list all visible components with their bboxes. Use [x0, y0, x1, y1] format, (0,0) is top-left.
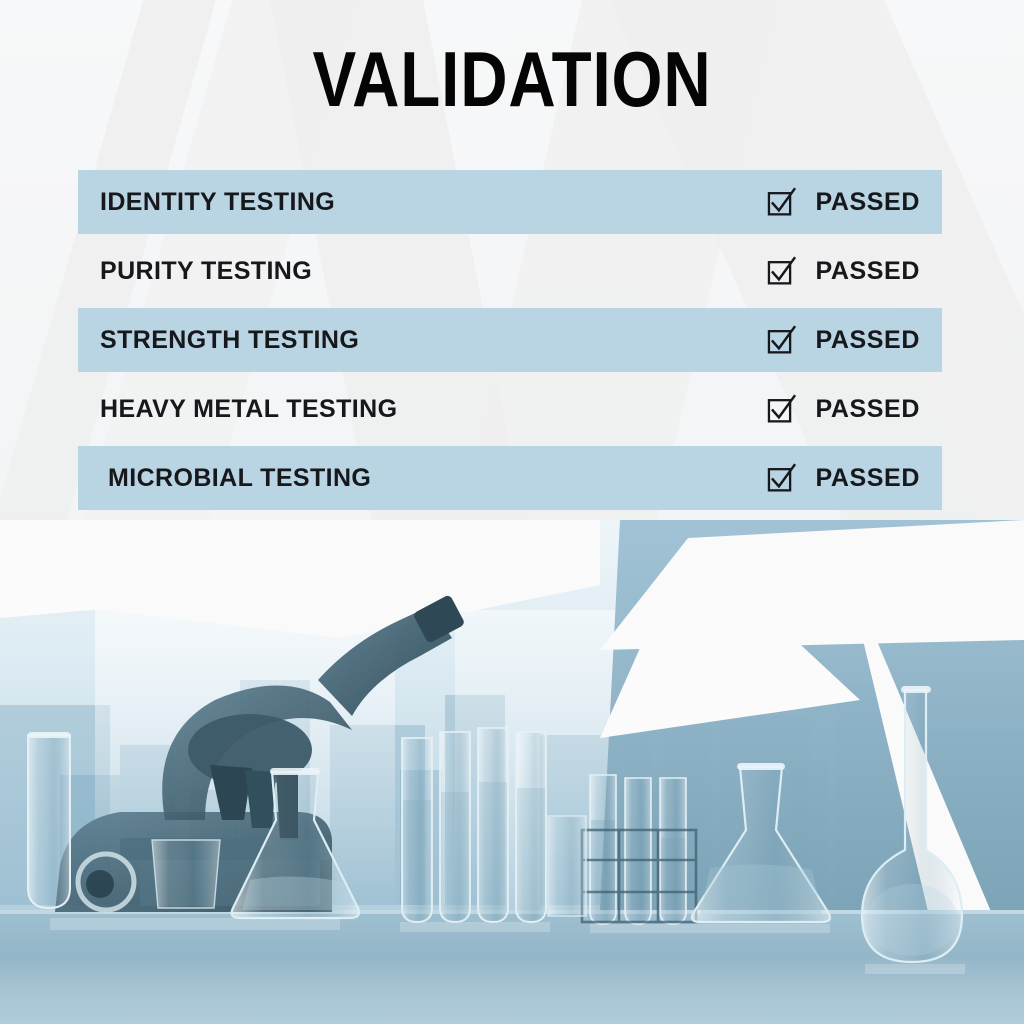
checklist-row-status: PASSED: [767, 256, 920, 286]
checklist-row-status: PASSED: [767, 463, 920, 493]
checklist-row: MICROBIAL TESTING PASSED: [78, 446, 942, 510]
checklist-row-label: PURITY TESTING: [100, 257, 312, 286]
checklist-row-status: PASSED: [767, 325, 920, 355]
checklist-row-status: PASSED: [767, 187, 920, 217]
checklist-row: IDENTITY TESTING PASSED: [78, 170, 942, 234]
checked-box-icon: [767, 394, 797, 424]
validation-checklist: IDENTITY TESTING PASSED PURITY TESTING: [78, 170, 942, 515]
status-badge: PASSED: [815, 395, 920, 424]
checked-box-icon: [767, 256, 797, 286]
page-title: VALIDATION: [82, 40, 942, 118]
status-badge: PASSED: [815, 257, 920, 286]
checklist-row: HEAVY METAL TESTING PASSED: [78, 377, 942, 441]
checked-box-icon: [767, 325, 797, 355]
status-badge: PASSED: [815, 188, 920, 217]
checklist-row-status: PASSED: [767, 394, 920, 424]
test-tube-tall-left: [28, 732, 70, 908]
lab-photo: [0, 520, 1024, 1024]
checklist-row-label: HEAVY METAL TESTING: [100, 395, 397, 424]
checklist-row: STRENGTH TESTING PASSED: [78, 308, 942, 372]
checklist-row-label: MICROBIAL TESTING: [108, 464, 371, 493]
checklist-row-label: IDENTITY TESTING: [100, 188, 335, 217]
validation-poster: VALIDATION IDENTITY TESTING PASSED PURIT…: [0, 0, 1024, 1024]
status-badge: PASSED: [815, 464, 920, 493]
checked-box-icon: [767, 463, 797, 493]
status-badge: PASSED: [815, 326, 920, 355]
checked-box-icon: [767, 187, 797, 217]
checklist-row: PURITY TESTING PASSED: [78, 239, 942, 303]
checklist-row-label: STRENGTH TESTING: [100, 326, 359, 355]
